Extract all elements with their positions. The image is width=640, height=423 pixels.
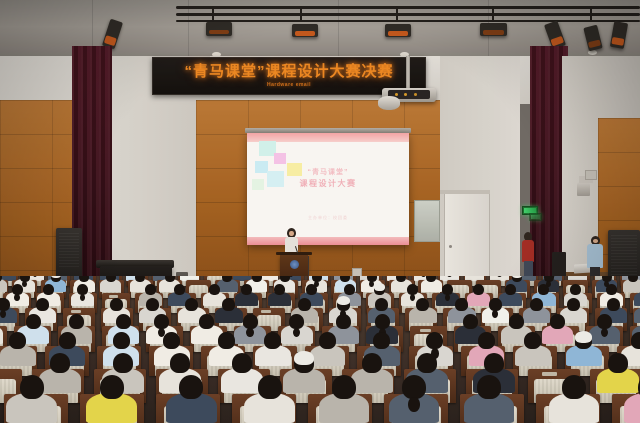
audience-member-head xyxy=(170,353,190,373)
audience-member-head xyxy=(509,314,524,329)
auditorium-photo: “青马课堂”课程设计大赛决赛 Hardware email “青马课堂” 课程设… xyxy=(0,0,640,423)
audience-member-head xyxy=(69,314,84,329)
wall-speaker xyxy=(577,182,590,196)
audience-member-head xyxy=(116,314,131,329)
audience-member-head xyxy=(274,284,285,295)
audience-member-head xyxy=(597,314,612,329)
audience-member-head xyxy=(562,375,586,399)
banner-title: “青马课堂”课程设计大赛决赛 xyxy=(184,64,393,79)
audience-member-head xyxy=(154,314,169,329)
podium-emblem xyxy=(290,260,299,269)
audience-member-head xyxy=(264,332,281,349)
audience-member-head xyxy=(336,314,351,329)
audience-member-hair-tie xyxy=(14,294,19,301)
audience-member-head xyxy=(179,375,203,399)
audience-member-torso xyxy=(634,292,640,306)
audience-member-head xyxy=(113,353,133,373)
audience-member-hair-tie xyxy=(80,294,85,301)
truss-hanger xyxy=(212,6,214,22)
ceiling-slab xyxy=(338,0,489,60)
equipment-case xyxy=(552,252,566,278)
red-shirt xyxy=(522,240,534,262)
audience-member-head xyxy=(50,353,70,373)
audience-member-head xyxy=(608,353,628,373)
audience-member-head xyxy=(59,332,76,349)
audience-member-head xyxy=(185,298,198,311)
audience-member-torso xyxy=(0,279,7,292)
stage-light xyxy=(480,23,507,36)
audience-member-head xyxy=(478,332,495,349)
audience-member-head xyxy=(20,375,44,399)
presenter-face xyxy=(289,231,294,236)
audience-member-head xyxy=(530,298,543,311)
audience-member-head xyxy=(241,284,252,295)
podium-cable xyxy=(308,256,309,278)
audience-member-head xyxy=(110,298,123,311)
audience-member-head xyxy=(332,375,356,399)
audience-member-head xyxy=(463,314,478,329)
audience-member-torso xyxy=(634,307,640,323)
slide-footer: 主办单位：校团委 xyxy=(247,215,409,221)
stage-light xyxy=(385,24,411,37)
audience-area xyxy=(0,276,640,423)
audience-member-head xyxy=(165,276,175,282)
truss-hanger xyxy=(590,6,592,22)
banner-subtitle: Hardware email xyxy=(267,82,311,88)
lighting-truss xyxy=(176,13,640,16)
audience-member-cap xyxy=(575,331,592,343)
audience-member-head xyxy=(298,298,311,311)
audience-member-head xyxy=(258,375,282,399)
projector-pole xyxy=(406,56,410,90)
audience-member-head xyxy=(524,332,541,349)
lighting-truss xyxy=(176,20,640,22)
slide-square xyxy=(274,153,286,164)
audience-member-head xyxy=(174,284,185,295)
audience-member-head xyxy=(362,353,382,373)
projection-screen: “青马课堂” 课程设计大赛 主办单位：校团委 xyxy=(247,133,409,245)
projector-indicator xyxy=(404,93,407,96)
stage-light xyxy=(292,24,318,37)
audience-member-head xyxy=(243,314,258,329)
audience-member-head xyxy=(567,298,580,311)
audience-member-head xyxy=(218,332,235,349)
seat-number-plate xyxy=(261,310,271,313)
audience-member-head xyxy=(100,375,124,399)
wall-outlet xyxy=(585,170,597,180)
projector-lens xyxy=(378,96,400,110)
truss-hanger xyxy=(396,6,398,22)
seat-number-plate xyxy=(542,372,558,375)
audience-member-head xyxy=(280,276,290,282)
truss-hanger xyxy=(492,6,494,22)
seat-number-plate xyxy=(420,329,431,332)
audience-member-head xyxy=(375,314,390,329)
audience-member-head xyxy=(106,276,116,282)
truss-hanger xyxy=(300,6,302,22)
audience-member-head xyxy=(43,284,54,295)
audience-member-head xyxy=(26,314,41,329)
audience-member-head xyxy=(489,298,502,311)
slide-title-line1: “青马课堂” xyxy=(247,167,409,177)
audience-member-head xyxy=(417,353,437,373)
exit-sign xyxy=(529,213,542,221)
slide-bottom-band xyxy=(247,237,409,245)
audience-member-head xyxy=(477,375,501,399)
audience-member-head xyxy=(113,332,130,349)
slide-title-line2: 课程设计大赛 xyxy=(247,178,409,189)
audience-member-hair-tie xyxy=(0,310,6,318)
wall-cabinet xyxy=(414,200,440,242)
audience-member-head xyxy=(289,314,304,329)
audience-member-head xyxy=(199,314,214,329)
audience-member-head xyxy=(146,298,159,311)
projector-indicator xyxy=(395,93,398,96)
audience-member-head xyxy=(209,284,220,295)
audience-member-head xyxy=(416,298,429,311)
audience-member-hair-tie xyxy=(408,397,420,412)
audience-member-head xyxy=(9,332,26,349)
seat-number-plate xyxy=(71,310,81,313)
audience-member-head xyxy=(550,314,565,329)
audience-member-head xyxy=(375,298,388,311)
audience-member-head xyxy=(163,332,180,349)
stage-light xyxy=(206,22,232,36)
audience-member-head xyxy=(484,353,504,373)
projector-indicator xyxy=(414,93,417,96)
audience-member-head xyxy=(232,353,252,373)
audience-member-head xyxy=(344,284,355,295)
audience-member-head xyxy=(473,284,484,295)
audience-member-head xyxy=(426,332,443,349)
audience-member-head xyxy=(319,332,336,349)
audience-member-head xyxy=(402,375,426,399)
audience-member-head xyxy=(373,332,390,349)
audience-member-hair-tie xyxy=(421,276,425,277)
door-frame xyxy=(440,190,490,194)
audience-member-cap xyxy=(294,351,314,365)
operator-shirt xyxy=(587,244,603,268)
audience-member-head xyxy=(455,298,468,311)
audience-member-cap xyxy=(374,283,385,291)
audience-member-hair-tie xyxy=(445,294,450,301)
audience-member-head xyxy=(36,298,49,311)
audience-member-head xyxy=(606,284,617,295)
audience-member-hair-tie xyxy=(246,328,253,337)
audience-member-head xyxy=(607,298,620,311)
audience-member-head xyxy=(252,276,262,282)
audience-member-cap xyxy=(337,296,350,305)
audience-member-head xyxy=(0,298,10,311)
lighting-truss xyxy=(176,6,640,9)
audience-member-head xyxy=(222,298,235,311)
audience-member-head xyxy=(631,332,640,349)
av-operator xyxy=(586,236,604,278)
